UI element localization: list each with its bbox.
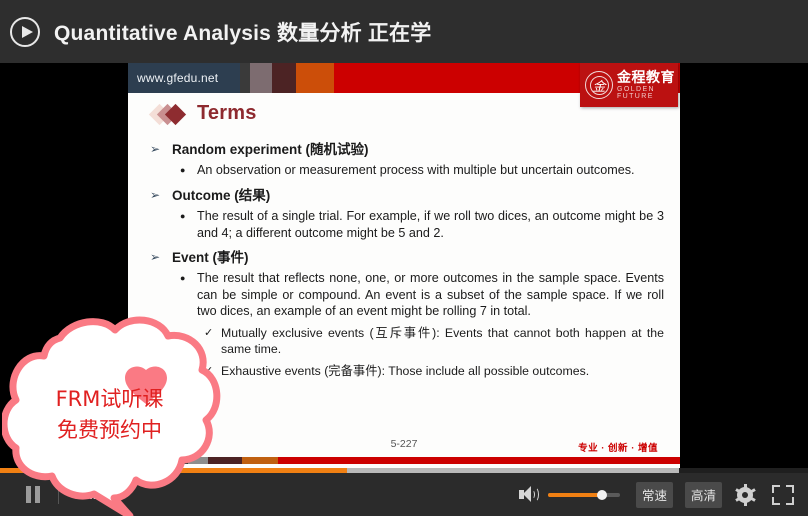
section-title: Terms bbox=[197, 102, 257, 125]
bullet-level1: ➢ Event (事件) bbox=[150, 249, 664, 266]
bullet-level2: ● An observation or measurement process … bbox=[180, 162, 664, 179]
gear-icon[interactable] bbox=[734, 484, 756, 506]
bullet-marker: ➢ bbox=[150, 249, 162, 266]
volume-knob[interactable] bbox=[597, 490, 607, 500]
play-circle-icon bbox=[10, 17, 40, 47]
header-color-segment-2 bbox=[250, 63, 272, 93]
slide-site-url: www.gfedu.net bbox=[128, 63, 240, 93]
bullet-level1: ➢ Outcome (结果) bbox=[150, 187, 664, 204]
volume-high-icon[interactable] bbox=[516, 483, 542, 507]
page-header: Quantitative Analysis 数量分析 正在学 bbox=[0, 0, 808, 63]
bullet-level1: ➢ Random experiment (随机试验) bbox=[150, 141, 664, 158]
promo-speech-bubble[interactable]: FRM试听课 免费预约中 bbox=[2, 312, 232, 516]
bullet-text: The result that reflects none, one, or m… bbox=[197, 270, 664, 320]
logo-name-en: GOLDEN FUTURE bbox=[617, 86, 678, 100]
bullet-marker: ● bbox=[180, 162, 188, 179]
bullet-marker: ➢ bbox=[150, 187, 162, 204]
bullet-marker: ● bbox=[180, 270, 188, 287]
fullscreen-icon[interactable] bbox=[772, 485, 794, 505]
bubble-shape bbox=[2, 312, 232, 516]
bullet-level2: ● The result of a single trial. For exam… bbox=[180, 208, 664, 241]
bullet-text: Mutually exclusive events (互斥事件): Events… bbox=[221, 325, 664, 358]
logo-name-cn: 金程教育 bbox=[617, 70, 678, 84]
header-color-segment-4 bbox=[296, 63, 334, 93]
seal-icon: 金 bbox=[585, 71, 613, 99]
playback-speed-button[interactable]: 常速 bbox=[636, 482, 673, 508]
slide-tagline: 专业 · 创新 · 增值 bbox=[578, 440, 658, 454]
bullet-level2: ● The result that reflects none, one, or… bbox=[180, 270, 664, 320]
page-title: Quantitative Analysis 数量分析 正在学 bbox=[54, 17, 431, 47]
volume-slider[interactable] bbox=[548, 493, 620, 497]
bullet-text: Exhaustive events (完备事件): Those include … bbox=[221, 363, 664, 380]
bullet-text: An observation or measurement process wi… bbox=[197, 162, 664, 179]
bullet-text: The result of a single trial. For exampl… bbox=[197, 208, 664, 241]
diamond-decoration-icon bbox=[152, 103, 188, 125]
volume-fill bbox=[548, 493, 602, 497]
header-color-segment-1 bbox=[240, 63, 250, 93]
quality-button[interactable]: 高清 bbox=[685, 482, 722, 508]
bullet-level3: ✓ Mutually exclusive events (互斥事件): Even… bbox=[204, 325, 664, 358]
seal-glyph: 金 bbox=[586, 72, 612, 98]
bullet-marker: ➢ bbox=[150, 141, 162, 158]
bullet-title: Random experiment (随机试验) bbox=[172, 141, 369, 158]
brand-logo: 金 金程教育 GOLDEN FUTURE bbox=[580, 63, 678, 107]
bullet-marker: ● bbox=[180, 208, 188, 225]
header-color-segment-3 bbox=[272, 63, 296, 93]
bullet-title: Event (事件) bbox=[172, 249, 249, 266]
bullet-level3: ✓ Exhaustive events (完备事件): Those includ… bbox=[204, 363, 664, 380]
bullet-title: Outcome (结果) bbox=[172, 187, 270, 204]
video-player-page: Quantitative Analysis 数量分析 正在学 www.gfedu… bbox=[0, 0, 808, 516]
